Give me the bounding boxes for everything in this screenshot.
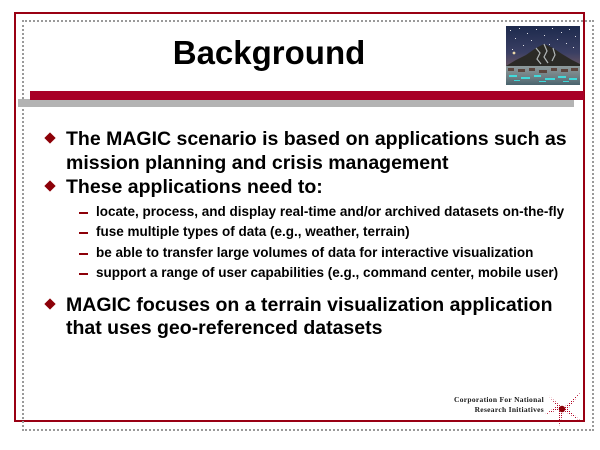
dash-bullet-icon: [79, 245, 88, 255]
bullet-level2: be able to transfer large volumes of dat…: [34, 245, 582, 262]
bullet-sublist: locate, process, and display real-time a…: [34, 204, 582, 282]
cnri-starburst-logo-icon: [543, 391, 583, 427]
bullet-level1: These applications need to:: [34, 176, 582, 200]
bullet-level2-text: support a range of user capabilities (e.…: [96, 265, 558, 280]
bullet-level2-text: be able to transfer large volumes of dat…: [96, 245, 533, 260]
dash-bullet-icon: [79, 204, 88, 214]
bullet-level1: MAGIC focuses on a terrain visualization…: [34, 294, 582, 341]
presentation-slide: Background: [0, 0, 600, 450]
slide-title: Background: [34, 33, 504, 73]
terrain-landscape-thumbnail: [506, 26, 580, 85]
bullet-level2-text: locate, process, and display real-time a…: [96, 204, 564, 219]
diamond-bullet-icon: [45, 180, 56, 191]
dash-bullet-icon: [79, 224, 88, 234]
footer-logo: Corporation For National Research Initia…: [443, 395, 583, 425]
title-divider-shadow: [18, 99, 574, 107]
diamond-bullet-icon: [45, 132, 56, 143]
bullet-level2: support a range of user capabilities (e.…: [34, 265, 582, 282]
bullet-level1-text: The MAGIC scenario is based on applicati…: [66, 128, 567, 174]
title-divider-bar: [30, 91, 584, 100]
footer-logo-text: Corporation For National Research Initia…: [444, 395, 544, 415]
footer-logo-line2: Research Initiatives: [444, 405, 544, 415]
bullet-level1-text: MAGIC focuses on a terrain visualization…: [66, 294, 553, 340]
dash-bullet-icon: [79, 265, 88, 275]
bullet-level2: fuse multiple types of data (e.g., weath…: [34, 224, 582, 241]
diamond-bullet-icon: [45, 298, 56, 309]
bullet-level1: The MAGIC scenario is based on applicati…: [34, 128, 582, 175]
bullet-level2: locate, process, and display real-time a…: [34, 204, 582, 221]
slide-body: The MAGIC scenario is based on applicati…: [34, 128, 582, 398]
bullet-level1-text: These applications need to:: [66, 176, 323, 198]
bullet-level2-text: fuse multiple types of data (e.g., weath…: [96, 224, 410, 239]
footer-logo-line1: Corporation For National: [444, 395, 544, 405]
